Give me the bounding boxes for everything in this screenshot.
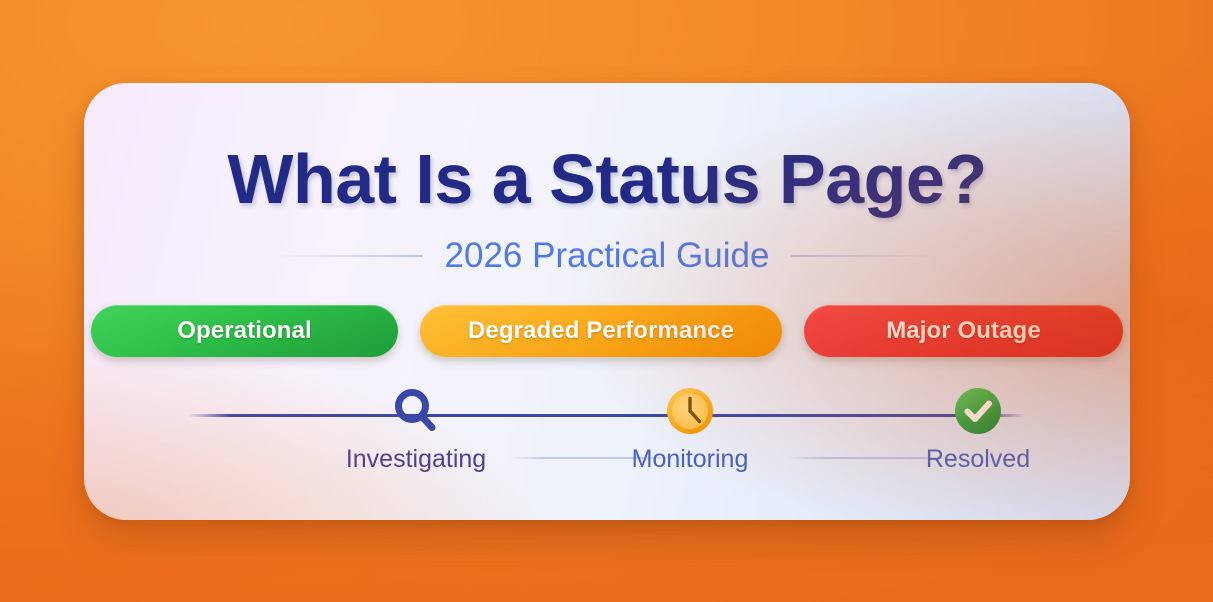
- status-page-card: What Is a Status Page? 2026 Practical Gu…: [84, 83, 1130, 520]
- timeline-stage-label-resolved: Resolved: [888, 443, 1068, 475]
- status-badge-group: Operational Degraded Performance Major O…: [84, 305, 1130, 357]
- timeline-stage-label-monitoring: Monitoring: [600, 443, 780, 475]
- subtitle-rule-right: [791, 255, 939, 257]
- subtitle-row: 2026 Practical Guide: [84, 234, 1130, 278]
- status-badge-major-outage[interactable]: Major Outage: [804, 305, 1123, 357]
- incident-timeline: Investigating: [188, 383, 1026, 483]
- page-title: What Is a Status Page?: [84, 139, 1130, 219]
- timeline-stage-investigating[interactable]: Investigating: [326, 383, 506, 475]
- status-badge-operational[interactable]: Operational: [91, 305, 398, 357]
- timeline-stage-monitoring[interactable]: Monitoring: [600, 383, 780, 475]
- clock-icon: [662, 383, 718, 439]
- subtitle-rule-left: [275, 255, 423, 257]
- poster-canvas: What Is a Status Page? 2026 Practical Gu…: [0, 0, 1213, 602]
- check-circle-icon: [950, 383, 1006, 439]
- timeline-stage-label-investigating: Investigating: [326, 443, 506, 475]
- magnifier-icon: [388, 383, 444, 439]
- timeline-stage-resolved[interactable]: Resolved: [888, 383, 1068, 475]
- page-subtitle: 2026 Practical Guide: [445, 235, 770, 277]
- status-badge-degraded-performance[interactable]: Degraded Performance: [420, 305, 782, 357]
